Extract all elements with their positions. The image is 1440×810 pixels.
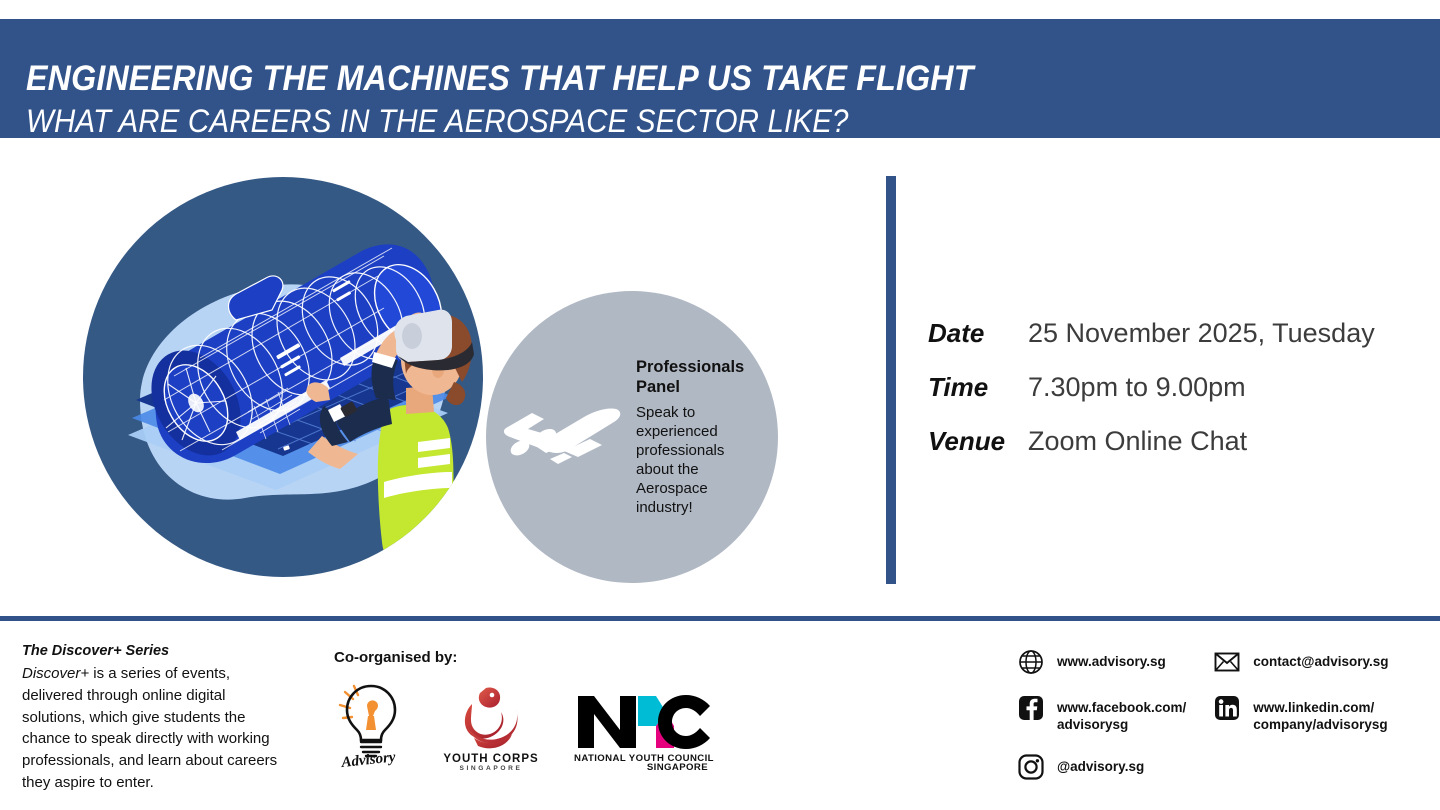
- contact-facebook[interactable]: www.facebook.com/ advisorysg: [1018, 695, 1186, 734]
- contact-info: www.advisory.sg www.facebook.com/ adviso…: [1018, 649, 1389, 780]
- contact-column-left: www.advisory.sg www.facebook.com/ adviso…: [1018, 649, 1186, 780]
- co-organisers: Co-organised by: Advisory: [334, 649, 714, 770]
- header-band: ENGINEERING THE MACHINES THAT HELP US TA…: [0, 19, 1440, 138]
- blurb-lead: Discover+: [22, 665, 89, 682]
- panel-description: Speak to experienced professionals about…: [636, 403, 754, 517]
- detail-row-time: Time 7.30pm to 9.00pm: [928, 372, 1375, 403]
- contact-facebook-text: www.facebook.com/ advisorysg: [1057, 695, 1186, 734]
- advisory-wordmark: Advisory: [340, 749, 397, 770]
- detail-row-venue: Venue Zoom Online Chat: [928, 426, 1375, 457]
- detail-label-time: Time: [928, 372, 1028, 403]
- contact-website[interactable]: www.advisory.sg: [1018, 649, 1186, 675]
- contact-website-text: www.advisory.sg: [1057, 649, 1166, 670]
- contact-linkedin[interactable]: www.linkedin.com/ company/advisorysg: [1214, 695, 1388, 734]
- details-accent-bar: [886, 176, 896, 584]
- contact-email-text: contact@advisory.sg: [1253, 649, 1388, 670]
- panel-title-line1: Professionals: [636, 358, 744, 376]
- advisory-logo: Advisory: [334, 678, 408, 770]
- globe-icon: [1018, 649, 1044, 675]
- professionals-panel-circle: Professionals Panel Speak to experienced…: [486, 291, 778, 583]
- contact-column-right: contact@advisory.sg www.linkedin.com/ co…: [1214, 649, 1388, 780]
- blurb-title: The Discover+ Series: [22, 641, 284, 663]
- nyc-logo: NATIONAL YOUTH COUNCIL SINGAPORE: [574, 692, 714, 770]
- page-subtitle: WHAT ARE CAREERS IN THE AEROSPACE SECTOR…: [26, 103, 849, 140]
- linkedin-icon: [1214, 695, 1240, 721]
- panel-title-line2: Panel: [636, 378, 680, 396]
- blurb-rest: is a series of events, delivered through…: [22, 665, 277, 791]
- envelope-icon: [1214, 649, 1240, 675]
- instagram-icon: [1018, 754, 1044, 780]
- nyc-sub: SINGAPORE: [647, 762, 708, 770]
- contact-linkedin-text: www.linkedin.com/ company/advisorysg: [1253, 695, 1387, 734]
- contact-instagram[interactable]: @advisory.sg: [1018, 754, 1186, 780]
- airplane-icon: [498, 395, 628, 475]
- youth-corps-sub: SINGAPORE: [460, 765, 523, 770]
- panel-title: Professionals Panel: [636, 357, 754, 397]
- footer: The Discover+ Series Discover+ is a seri…: [0, 621, 1440, 810]
- discover-series-blurb: The Discover+ Series Discover+ is a seri…: [22, 641, 284, 794]
- detail-value-date: 25 November 2025, Tuesday: [1028, 318, 1375, 349]
- detail-label-venue: Venue: [928, 426, 1028, 457]
- co-organiser-logos: Advisory: [334, 678, 714, 770]
- co-organised-label: Co-organised by:: [334, 649, 714, 666]
- facebook-icon: [1018, 695, 1044, 721]
- detail-row-date: Date 25 November 2025, Tuesday: [928, 318, 1375, 349]
- detail-value-venue: Zoom Online Chat: [1028, 426, 1247, 457]
- page-title: ENGINEERING THE MACHINES THAT HELP US TA…: [26, 59, 974, 99]
- youth-corps-name: YOUTH CORPS: [443, 753, 538, 765]
- aerospace-engineer-illustration: [40, 160, 520, 600]
- event-details: Date 25 November 2025, Tuesday Time 7.30…: [928, 318, 1375, 480]
- youth-corps-logo: YOUTH CORPS SINGAPORE: [442, 682, 540, 770]
- contact-email[interactable]: contact@advisory.sg: [1214, 649, 1388, 675]
- detail-value-time: 7.30pm to 9.00pm: [1028, 372, 1246, 403]
- contact-instagram-text: @advisory.sg: [1057, 754, 1144, 775]
- event-poster: ENGINEERING THE MACHINES THAT HELP US TA…: [0, 0, 1440, 810]
- detail-label-date: Date: [928, 318, 1028, 349]
- blurb-body: Discover+ is a series of events, deliver…: [22, 663, 284, 794]
